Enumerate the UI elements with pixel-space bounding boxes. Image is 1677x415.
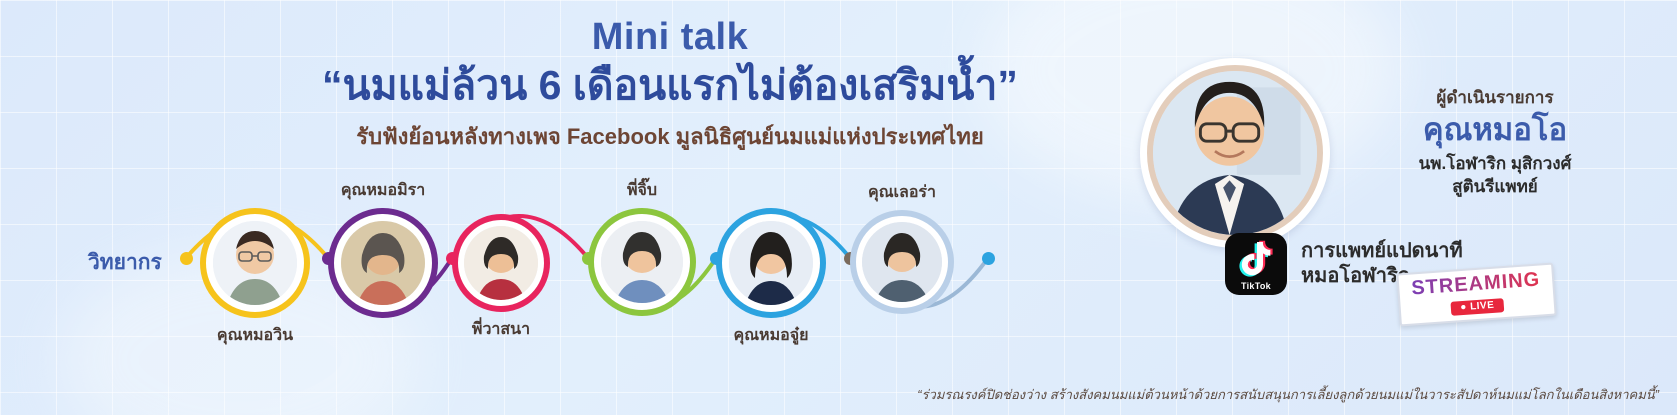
tiktok-note-icon (1239, 239, 1273, 277)
speaker-name: คุณหมอมิรา (341, 178, 425, 203)
streaming-badge: STREAMING ● LIVE (1396, 263, 1556, 327)
avatar-photo (862, 222, 942, 302)
host-info: ผู้ดำเนินรายการ คุณหมอโอ นพ.โอฬาริก มุสิ… (1345, 84, 1645, 199)
speaker-name: พี่จิ๊บ (627, 178, 657, 203)
avatar-ring (716, 208, 826, 318)
speaker-name: พี่วาสนา (472, 317, 530, 342)
host-avatar (1140, 58, 1330, 248)
avatar-ring (588, 208, 696, 316)
timeline-dot (982, 252, 995, 265)
speaker-timeline: วิทยากร (60, 180, 1120, 350)
host-panel: ผู้ดำเนินรายการ คุณหมอโอ นพ.โอฬาริก มุสิ… (1140, 48, 1660, 388)
avatar-ring (452, 214, 550, 312)
avatar-photo (464, 226, 538, 300)
host-full-name: นพ.โอฬาริก มุสิกวงศ์ (1345, 153, 1645, 176)
speaker-node-4[interactable]: พี่จิ๊บ (588, 208, 696, 316)
tiktok-label: TikTok (1225, 281, 1287, 291)
header: Mini talk “นมแม่ล้วน 6 เดือนแรกไม่ต้องเส… (180, 18, 1160, 154)
speaker-node-1[interactable]: คุณหมอวิน (200, 208, 310, 318)
avatar-ring (328, 208, 438, 318)
live-badge: ● LIVE (1451, 298, 1504, 316)
speaker-node-6[interactable]: คุณเลอร่า (850, 210, 954, 314)
mini-talk-label: Mini talk (180, 18, 1160, 58)
host-photo (1153, 71, 1317, 235)
streaming-label: STREAMING (1411, 269, 1541, 301)
avatar-photo (341, 221, 425, 305)
channel-name-line1: การแพทย์แปดนาที (1301, 239, 1463, 264)
speaker-node-2[interactable]: คุณหมอมิรา (328, 208, 438, 318)
host-specialty: สูตินรีแพทย์ (1345, 176, 1645, 199)
page-title: “นมแม่ล้วน 6 เดือนแรกไม่ต้องเสริมน้ำ” (180, 62, 1160, 109)
avatar-photo (729, 221, 813, 305)
subtitle: รับฟังย้อนหลังทางเพจ Facebook มูลนิธิศูน… (180, 119, 1160, 154)
speaker-name: คุณเลอร่า (868, 180, 936, 205)
host-nickname: คุณหมอโอ (1345, 113, 1645, 147)
footer-note: “ร่วมรณรงค์ปิดช่องว่าง สร้างสังคมนมแม่ต้… (917, 384, 1659, 405)
speaker-name: คุณหมอวิน (217, 323, 293, 348)
tiktok-icon[interactable]: TikTok (1225, 233, 1287, 295)
avatar-photo (601, 221, 683, 303)
host-role: ผู้ดำเนินรายการ (1345, 84, 1645, 111)
avatar-photo (213, 221, 297, 305)
avatar-ring (850, 210, 954, 314)
speaker-name: คุณหมอจู๋ย (734, 323, 809, 348)
promo-banner: Mini talk “นมแม่ล้วน 6 เดือนแรกไม่ต้องเส… (0, 0, 1677, 415)
speaker-node-5[interactable]: คุณหมอจู๋ย (716, 208, 826, 318)
speaker-node-3[interactable]: พี่วาสนา (452, 214, 550, 312)
avatar-ring (200, 208, 310, 318)
timeline-dot (180, 252, 193, 265)
